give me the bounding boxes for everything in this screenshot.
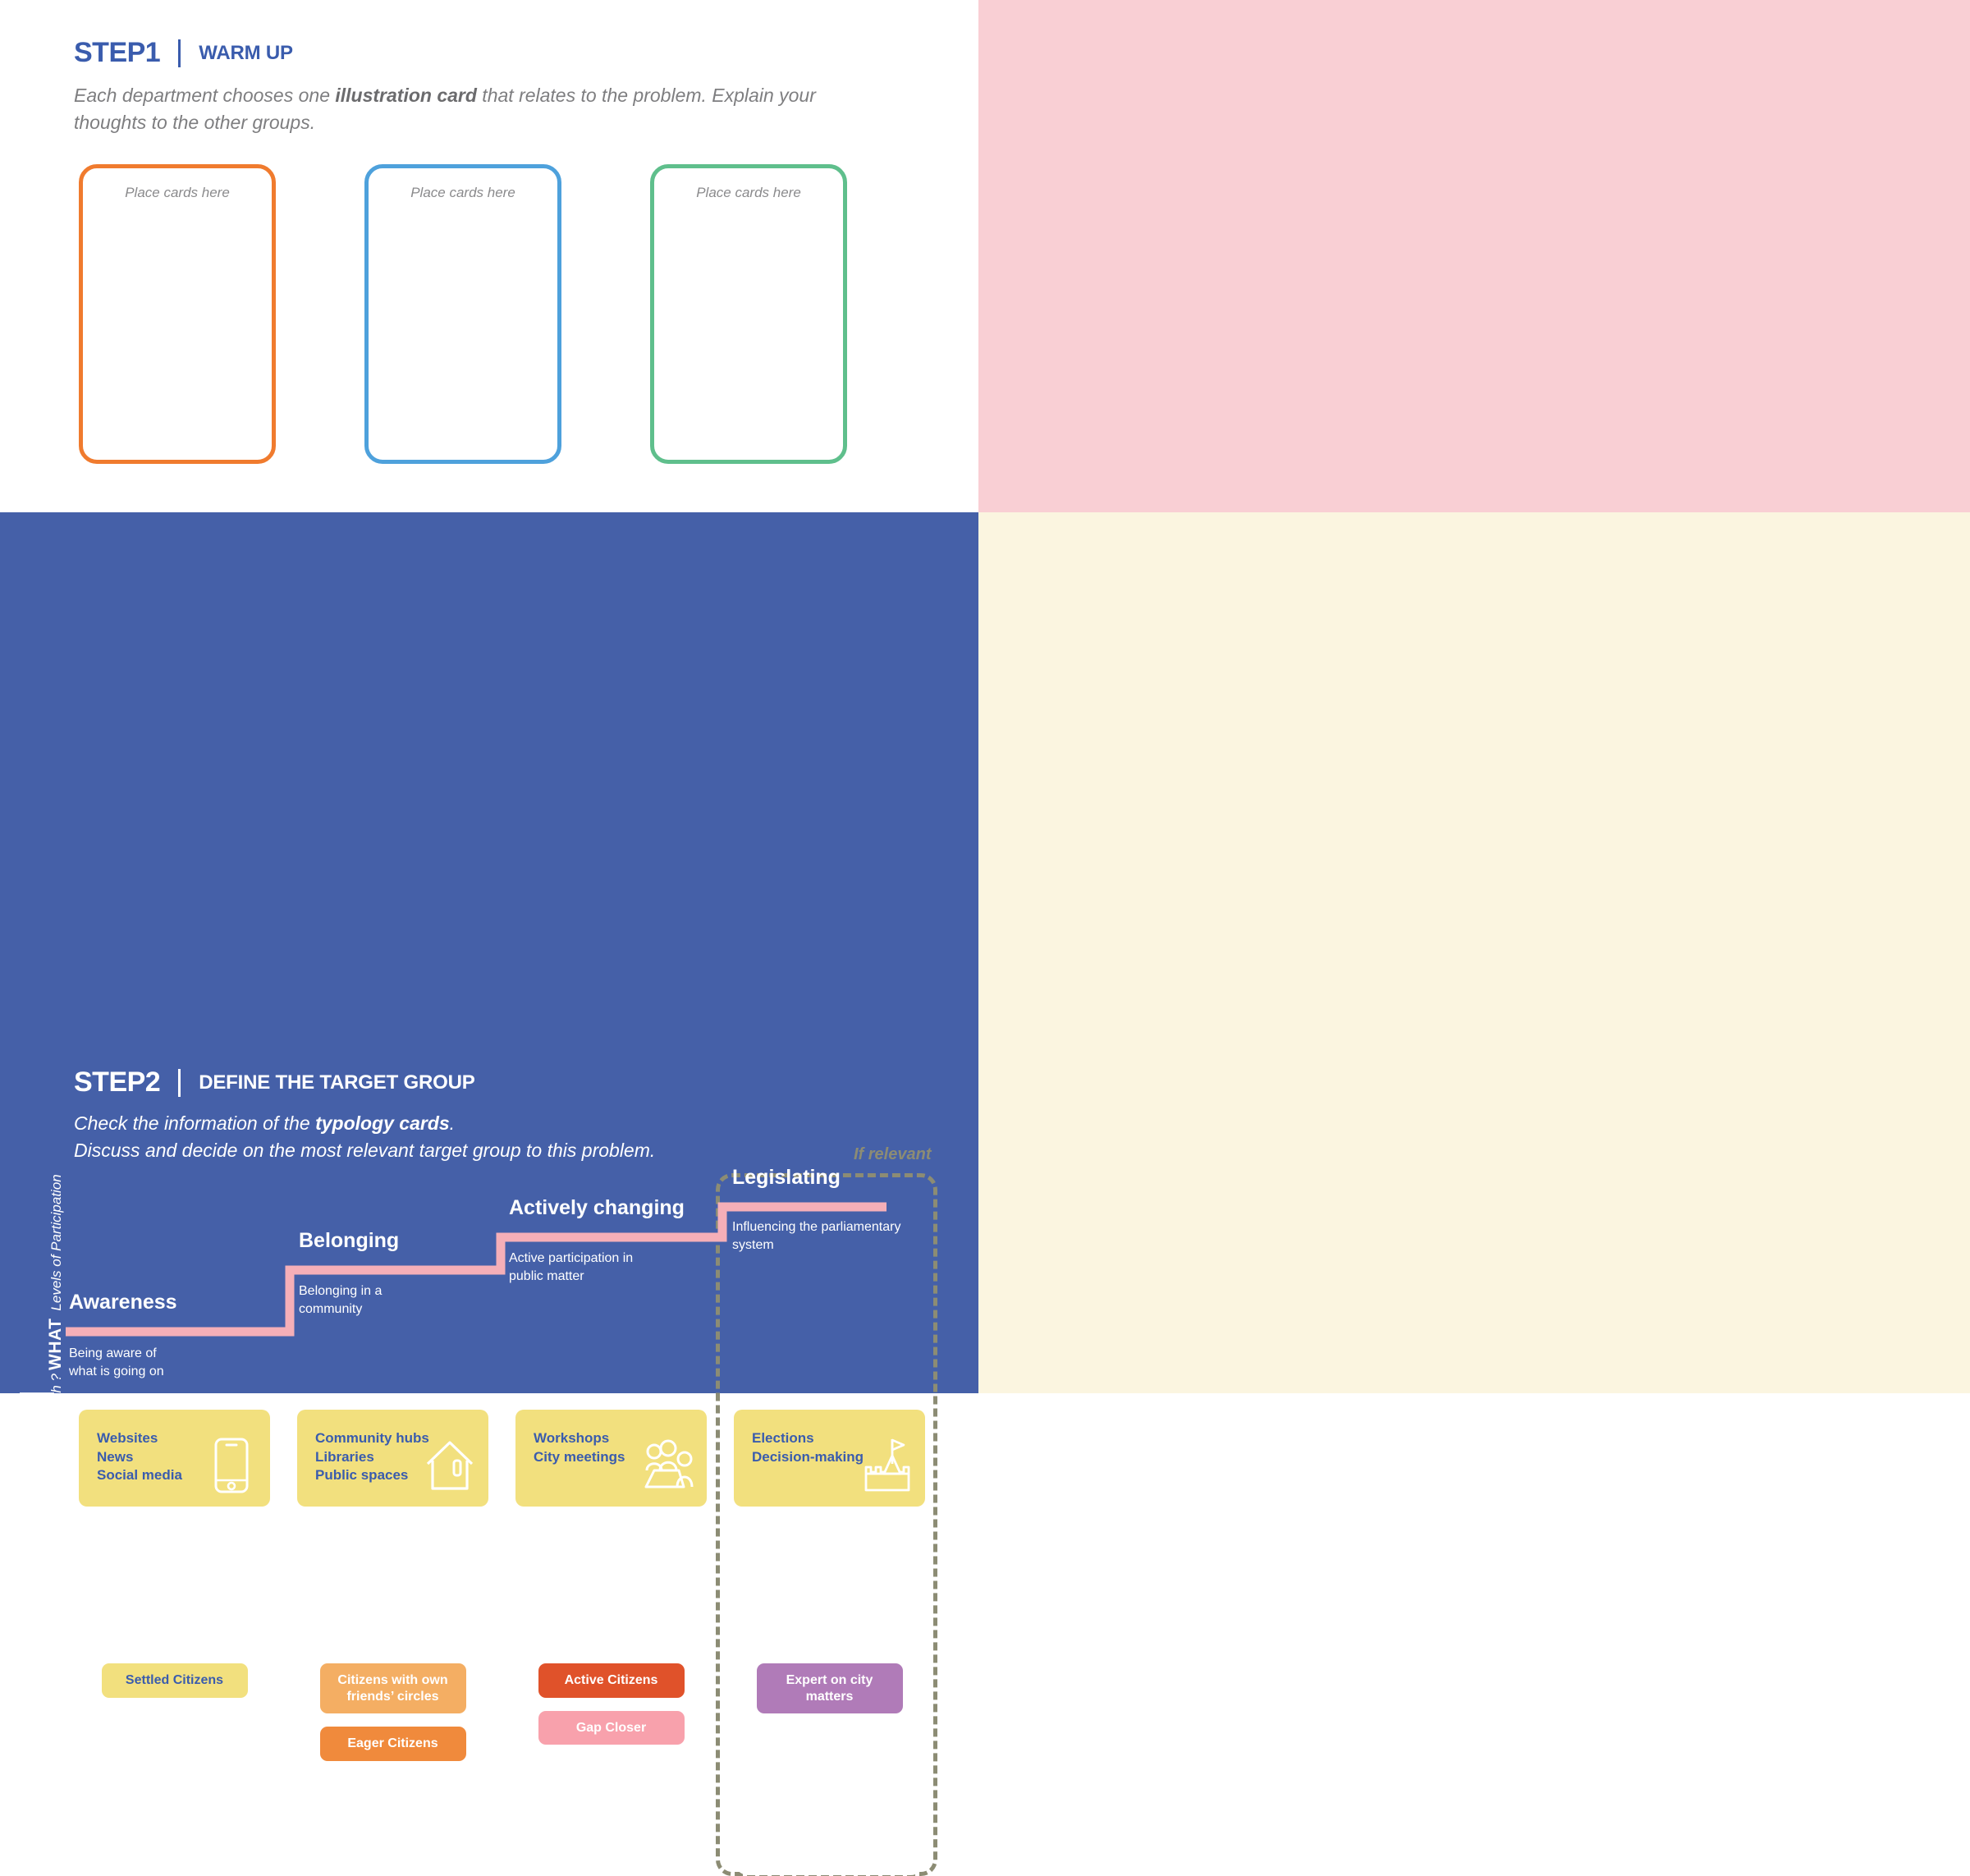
people-at-table-icon [641, 1436, 695, 1495]
castle-flag-icon [859, 1436, 914, 1495]
panel-step3: STEP3 HOW MUCH IS IT RELATED TO MY DEPAR… [978, 0, 1970, 512]
smartphone-icon [204, 1436, 259, 1495]
step1-heading: STEP1 WARM UP [74, 37, 293, 69]
step1-number: STEP1 [74, 37, 160, 69]
workshop-canvas: STEP1 WARM UP Each department chooses on… [0, 0, 1970, 1393]
step1-card-slot-green[interactable]: Place cards here [650, 164, 847, 464]
step2-description-line1: Check the information of the typology ca… [74, 1110, 878, 1137]
step1-card-slot-blue[interactable]: Place cards here [364, 164, 561, 464]
step2-description: Check the information of the typology ca… [74, 1110, 878, 1163]
where-card-workshops: Workshops City meetings [515, 1410, 707, 1507]
typology-chip-expert-on-city-matters[interactable]: Expert on city matters [757, 1663, 903, 1713]
placeholder-text: Place related typology here [95, 1576, 254, 1591]
placeholder-text: Place cards here [369, 185, 557, 201]
panel-step2: STEP2 DEFINE THE TARGET GROUP Check the … [0, 512, 978, 1393]
step1-title: WARM UP [199, 42, 293, 65]
level-sub-legislating: Influencing the parliamentary system [732, 1218, 900, 1254]
typology-chip-active-citizens[interactable]: Active Citizens [538, 1663, 685, 1698]
where-card-row: Websites News Social media Community hub… [79, 1410, 925, 1507]
step2-number: STEP2 [74, 1066, 160, 1099]
step1-card-slot-orange[interactable]: Place cards here [79, 164, 276, 464]
panel-step1: STEP1 WARM UP Each department chooses on… [0, 0, 978, 512]
typology-chip-eager-citizens[interactable]: Eager Citizens [320, 1727, 466, 1761]
step2-title: DEFINE THE TARGET GROUP [199, 1071, 474, 1094]
who-card-slot-4[interactable]: Place related typology here Expert on ci… [734, 1559, 925, 1875]
placeholder-text: Place related typology here [532, 1576, 691, 1591]
who-card-row: Place related typology here Settled Citi… [79, 1559, 925, 1875]
placeholder-text: Place cards here [654, 185, 843, 201]
level-name-belonging: Belonging [299, 1229, 399, 1253]
level-sub-actively-changing: Active participation in public matter [509, 1250, 633, 1285]
who-card-slot-3[interactable]: Place related typology here Active Citiz… [515, 1559, 707, 1875]
who-card-slot-2[interactable]: Place related typology here Citizens wit… [297, 1559, 488, 1875]
where-card-elections: Elections Decision-making [734, 1410, 925, 1507]
where-card-websites: Websites News Social media [79, 1410, 270, 1507]
if-relevant-label: If relevant [854, 1145, 931, 1164]
axis-label-who: WHOTypology cards [46, 1479, 66, 1726]
typology-chip-group: Citizens with own friends’ circles Eager… [313, 1663, 473, 1761]
typology-chip-gap-closer[interactable]: Gap Closer [538, 1711, 685, 1745]
where-card-lines: Workshops City meetings [534, 1429, 625, 1507]
where-card-lines: Community hubs Libraries Public spaces [315, 1429, 429, 1507]
step2-divider [178, 1069, 181, 1097]
level-sub-belonging: Belonging in a community [299, 1282, 382, 1318]
placeholder-text: Place related typology here [314, 1576, 473, 1591]
where-card-lines: Elections Decision-making [752, 1429, 864, 1507]
placeholder-text: Place related typology here [750, 1576, 909, 1591]
typology-chip-group: Settled Citizens [94, 1663, 254, 1698]
who-card-slot-1[interactable]: Place related typology here Settled Citi… [79, 1559, 270, 1875]
level-sub-awareness: Being aware of what is going on [69, 1345, 164, 1380]
typology-chip-group: Expert on city matters [749, 1663, 909, 1713]
level-name-actively-changing: Actively changing [509, 1196, 685, 1220]
step1-description: Each department chooses one illustration… [74, 82, 862, 135]
typology-chip-settled-citizens[interactable]: Settled Citizens [102, 1663, 248, 1698]
house-icon [423, 1436, 477, 1495]
where-card-community-hubs: Community hubs Libraries Public spaces [297, 1410, 488, 1507]
level-name-legislating: Legislating [732, 1166, 841, 1190]
step1-divider [178, 39, 181, 67]
step2-heading: STEP2 DEFINE THE TARGET GROUP [74, 1066, 475, 1099]
levels-of-participation-staircase: Awareness Being aware of what is going o… [66, 1186, 969, 1383]
placeholder-text: Place cards here [83, 185, 272, 201]
step1-card-slots: Place cards here Place cards here Place … [79, 164, 847, 464]
step2-description-line2: Discuss and decide on the most relevant … [74, 1137, 878, 1164]
where-card-lines: Websites News Social media [97, 1429, 182, 1507]
panel-step4: STEP4 PLAY WITH YOUR RESOURCE CARDS Each… [978, 512, 1970, 1393]
typology-chip-group: Active Citizens Gap Closer [531, 1663, 691, 1745]
level-name-awareness: Awareness [69, 1291, 177, 1314]
typology-chip-citizens-own-friends-circles[interactable]: Citizens with own friends’ circles [320, 1663, 466, 1713]
